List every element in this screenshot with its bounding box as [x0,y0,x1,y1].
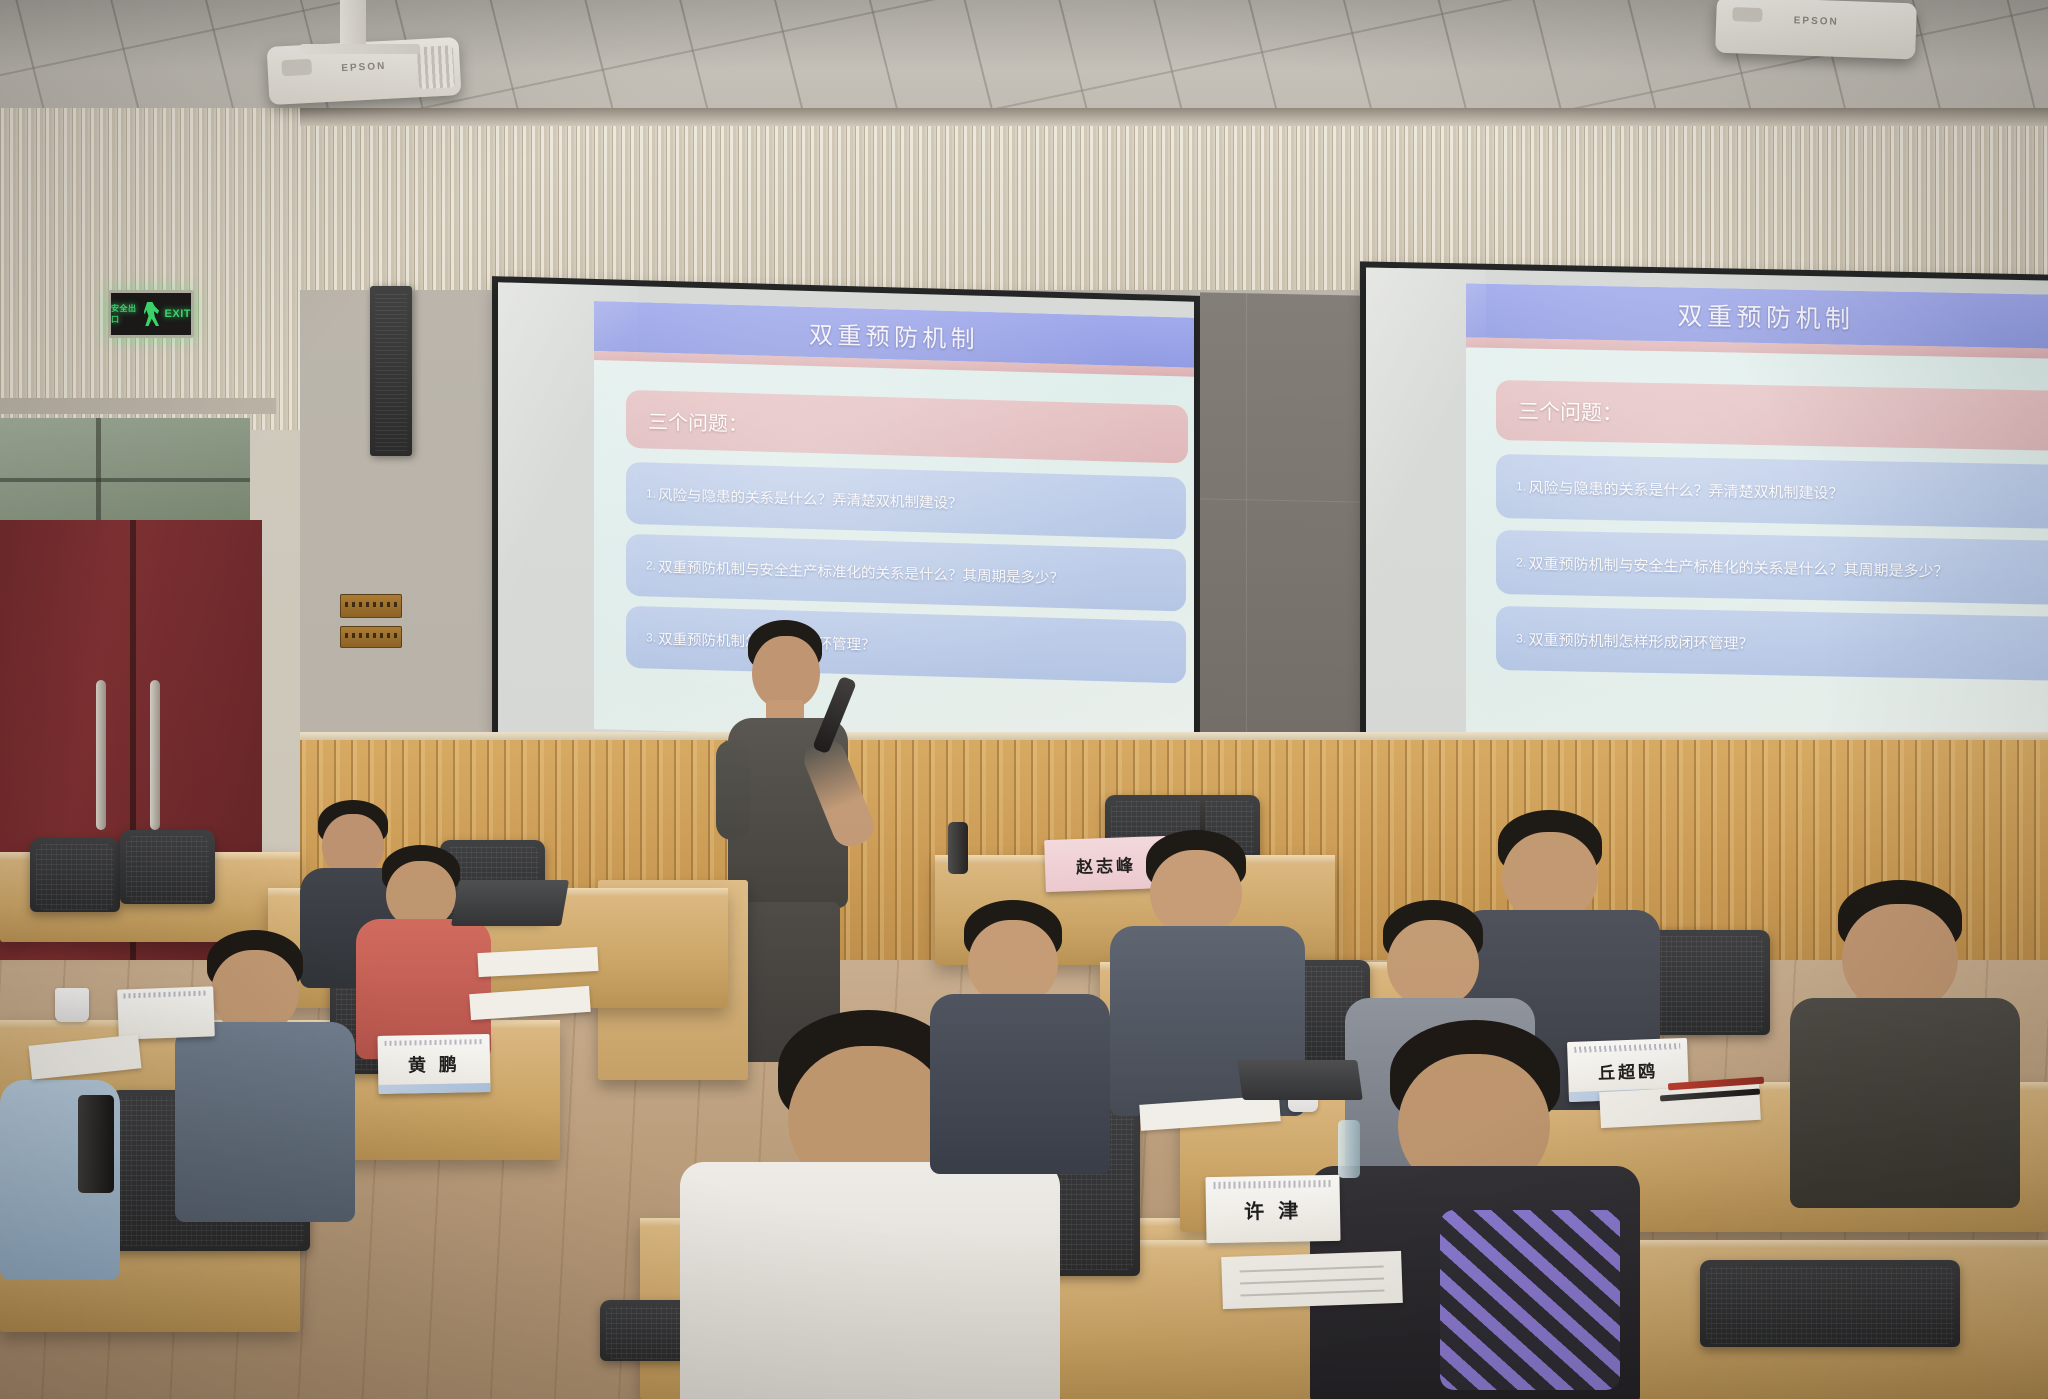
right-slide-question-3: 3. 双重预防机制怎样形成闭环管理？ [1496,606,2048,681]
name-card-left-blank-header [123,991,208,999]
attendee-right-6-torso [1790,998,2020,1208]
right-q2-text: 双重预防机制与安全生产标准化的关系是什么？其周期是多少？ [1528,552,1948,581]
right-q1-text: 风险与隐患的关系是什么？弄清楚双机制建设？ [1528,476,1843,503]
name-card-left-blank [117,986,215,1039]
chair-right-d[interactable] [1700,1260,1960,1399]
wall-speaker [370,286,412,456]
left-q2-text: 双重预防机制与安全生产标准化的关系是什么？其周期是多少？ [658,555,1064,587]
left-slide-question-1: 1. 风险与隐患的关系是什么？弄清楚双机制建设？ [626,462,1186,540]
name-card-huang-strip [378,1083,490,1094]
projector-right-lens [1732,7,1762,22]
window-mullion-horizontal [0,478,250,482]
plaque-lower-text [345,633,398,638]
handout-right-2-line-3 [1240,1289,1384,1296]
chair-left-a[interactable] [30,838,120,958]
wall-top-shadow [0,108,2048,126]
left-q1-text: 风险与隐患的关系是什么？弄清楚双机制建设？ [658,483,963,513]
attendee-right-1-torso [930,994,1110,1174]
laptop-right[interactable] [1237,1060,1363,1100]
projector-right-brand: EPSON [1794,15,1839,28]
laptop-left[interactable] [451,880,569,926]
name-card-xu-text: 许 津 [1244,1194,1302,1224]
right-slide: 双重预防机制 三个问题： 1. 风险与隐患的关系是什么？弄清楚双机制建设？ 2.… [1466,283,2048,745]
left-q3-number: 3. [646,630,656,644]
name-card-huang-text: 黄 鹏 [408,1051,460,1078]
between-screens-wall-panel [1200,292,1360,745]
speaker-mesh [375,291,407,451]
left-slide-section-header: 三个问题： [626,390,1188,464]
attendee-right-5-backpack [1440,1210,1620,1390]
name-card-huang-header [384,1039,483,1047]
projector-right: EPSON [1715,0,1917,59]
handout-right-2-line-2 [1240,1277,1384,1284]
laptop-right-lid [1237,1060,1363,1100]
right-slide-question-1: 1. 风险与隐患的关系是什么？弄清楚双机制建设？ [1496,454,2048,529]
left-slide-question-2: 2. 双重预防机制与安全生产标准化的关系是什么？其周期是多少？ [626,534,1186,612]
handout-right-2 [1221,1251,1403,1309]
handout-right-2-line-1 [1240,1265,1384,1272]
left-q2-number: 2. [646,558,656,572]
panel-seam-horizontal [1200,498,1360,502]
presenter-head [752,636,820,708]
plaque-upper-text [345,602,398,607]
laptop-left-lid [451,880,569,926]
attendee-left-3-torso [175,1022,355,1222]
name-card-qiu-header [1574,1043,1680,1053]
right-screen[interactable]: 双重预防机制 三个问题： 1. 风险与隐患的关系是什么？弄清楚双机制建设？ 2.… [1366,267,2048,758]
right-q2-number: 2. [1516,555,1526,569]
attendee-right-2 [1110,830,1305,1080]
classroom-photo: EPSON EPSON 安全出口 EXIT 双重预防机制 三个问题： 1. 风险… [0,0,2048,1399]
left-slide: 双重预防机制 三个问题： 1. 风险与隐患的关系是什么？弄清楚双机制建设？ 2.… [594,301,1194,746]
attendee-left-2-head [386,861,456,927]
attendee-left-3-head [211,950,299,1032]
door-handle-right[interactable] [150,680,160,830]
thermos-left [78,1095,114,1193]
chair-right-d-mesh [1706,1266,1954,1344]
paper-cup-left [55,988,89,1022]
right-q3-text: 双重预防机制怎样形成闭环管理？ [1528,628,1753,653]
right-q1-number: 1. [1516,479,1526,493]
door-handle-left[interactable] [96,680,106,830]
projector-left-vent [417,45,455,89]
panel-seam-vertical [1246,293,1247,743]
water-bottle-center [1338,1120,1360,1178]
attendee-right-1-head [968,920,1058,1004]
attendee-right-4-head [1387,920,1479,1006]
name-card-xu: 许 津 [1205,1175,1340,1243]
name-card-qiu-text: 丘超鸥 [1597,1056,1658,1083]
name-card-xu-header [1214,1180,1332,1189]
wall-plaque-lower [340,626,402,648]
right-q3-number: 3. [1516,631,1526,645]
door-header-frame [0,398,276,414]
left-q1-number: 1. [646,486,656,500]
attendee-right-1 [930,900,1110,1130]
attendee-right-6-head [1842,904,1958,1010]
name-card-huang: 黄 鹏 [378,1034,491,1094]
projector-left-mount-plate [300,44,420,54]
chair-left-a-mesh [36,844,114,910]
chair-left-b-mesh [126,836,209,902]
running-man-icon [144,302,162,326]
projector-left-lens [281,59,312,77]
attendee-right-6 [1790,880,2020,1180]
exit-sign-left-text: 安全出口 [111,303,141,325]
projector-left-brand: EPSON [341,61,387,74]
right-slide-section-header: 三个问题： [1496,380,2048,451]
attendee-center-white-torso [680,1162,1060,1399]
right-slide-question-2: 2. 双重预防机制与安全生产标准化的关系是什么？其周期是多少？ [1496,530,2048,605]
presenter-arm-left [716,740,750,840]
attendee-left-3 [175,930,355,1190]
chair-right-c-mesh [1646,936,1764,1032]
wall-plaque-upper [340,594,402,618]
head-table-thermos [948,822,968,874]
exit-sign-right-text: EXIT [165,308,191,320]
attendee-right-2-head [1150,850,1242,934]
exit-sign: 安全出口 EXIT [108,290,194,338]
